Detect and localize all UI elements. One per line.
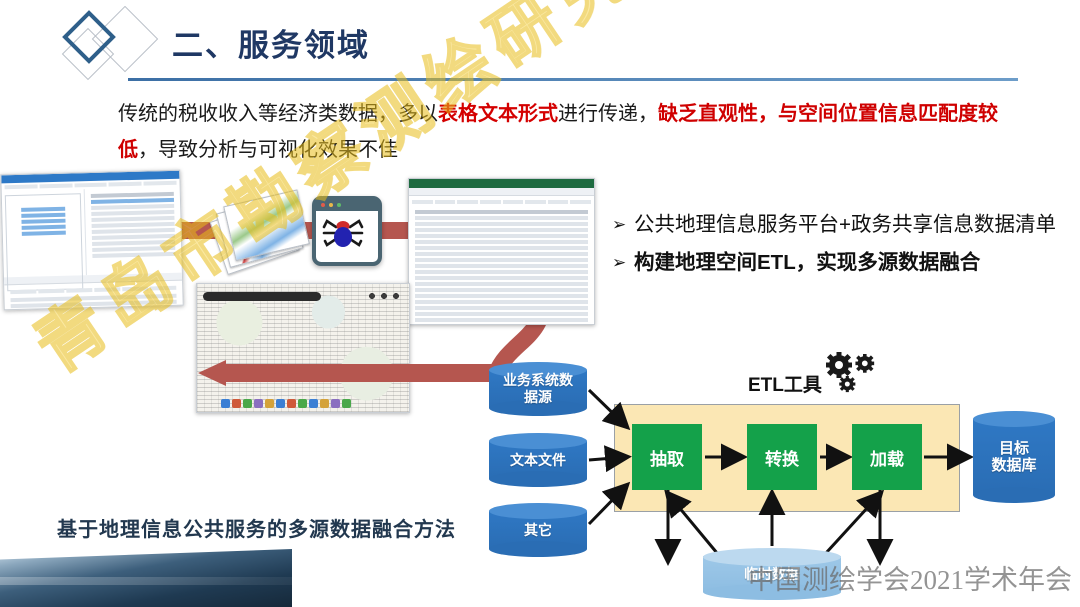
map-search-bar: [203, 292, 321, 301]
para-seg-2: 进行传递，: [558, 103, 658, 125]
source-label-3a: 其它: [524, 522, 552, 539]
para-seg-3: ，导致分析与可视化效果不佳: [138, 139, 398, 161]
business-system-screenshot: [0, 170, 183, 311]
map-legend-icons: [221, 399, 351, 408]
bullet-marker-icon: ➢: [612, 246, 634, 280]
para-seg-1: 传统的税收收入等经济类数据，多以: [118, 103, 438, 125]
para-highlight-1: 表格文本形式: [438, 103, 558, 125]
etl-step-load: 加载: [852, 424, 922, 490]
target-database-cylinder: 目标数据库: [973, 411, 1055, 503]
etl-tool-label: ETL工具: [748, 370, 822, 397]
bullet-text-2: 构建地理空间ETL，实现多源数据融合: [634, 246, 980, 280]
target-label-b: 数据库: [991, 457, 1036, 474]
bullet-item-2: ➢ 构建地理空间ETL，实现多源数据融合: [612, 246, 1080, 280]
bullet-item-1: ➢ 公共地理信息服务平台+政务共享信息数据清单: [612, 208, 1080, 242]
source-label-2a: 文本文件: [510, 452, 566, 469]
web-pages-stack: [209, 186, 319, 278]
spreadsheet-screenshot: [408, 178, 595, 325]
source-cylinder-textfile: 文本文件: [489, 433, 587, 487]
gears-icon: [824, 352, 886, 400]
page-title: 二、服务领域: [172, 20, 370, 65]
intro-paragraph: 传统的税收收入等经济类数据，多以表格文本形式进行传递，缺乏直观性，与空间位置信息…: [118, 96, 1023, 168]
source-label-1a: 业务系统数: [503, 372, 573, 389]
bullet-text-1: 公共地理信息服务平台+政务共享信息数据清单: [634, 208, 1056, 242]
map-service-screenshot: [196, 283, 410, 413]
map-window-controls: [367, 292, 401, 300]
target-label-a: 目标: [999, 440, 1029, 457]
source-label-1b: 据源: [524, 389, 552, 406]
title-divider: [128, 78, 1018, 81]
web-crawler-spider-icon: [312, 196, 382, 266]
conference-watermark: 中国测绘学会2021学术年会: [748, 558, 1072, 597]
coastal-landscape-photo: [0, 549, 292, 607]
etl-step-transform: 转换: [747, 424, 817, 490]
figure-caption: 基于地理信息公共服务的多源数据融合方法: [57, 513, 456, 542]
bullet-marker-icon: ➢: [612, 208, 634, 242]
source-cylinder-other: 其它: [489, 503, 587, 557]
bullet-list: ➢ 公共地理信息服务平台+政务共享信息数据清单 ➢ 构建地理空间ETL，实现多源…: [612, 208, 1080, 282]
slide-logo: [60, 6, 180, 86]
source-cylinder-business: 业务系统数据源: [489, 362, 587, 416]
etl-step-extract: 抽取: [632, 424, 702, 490]
